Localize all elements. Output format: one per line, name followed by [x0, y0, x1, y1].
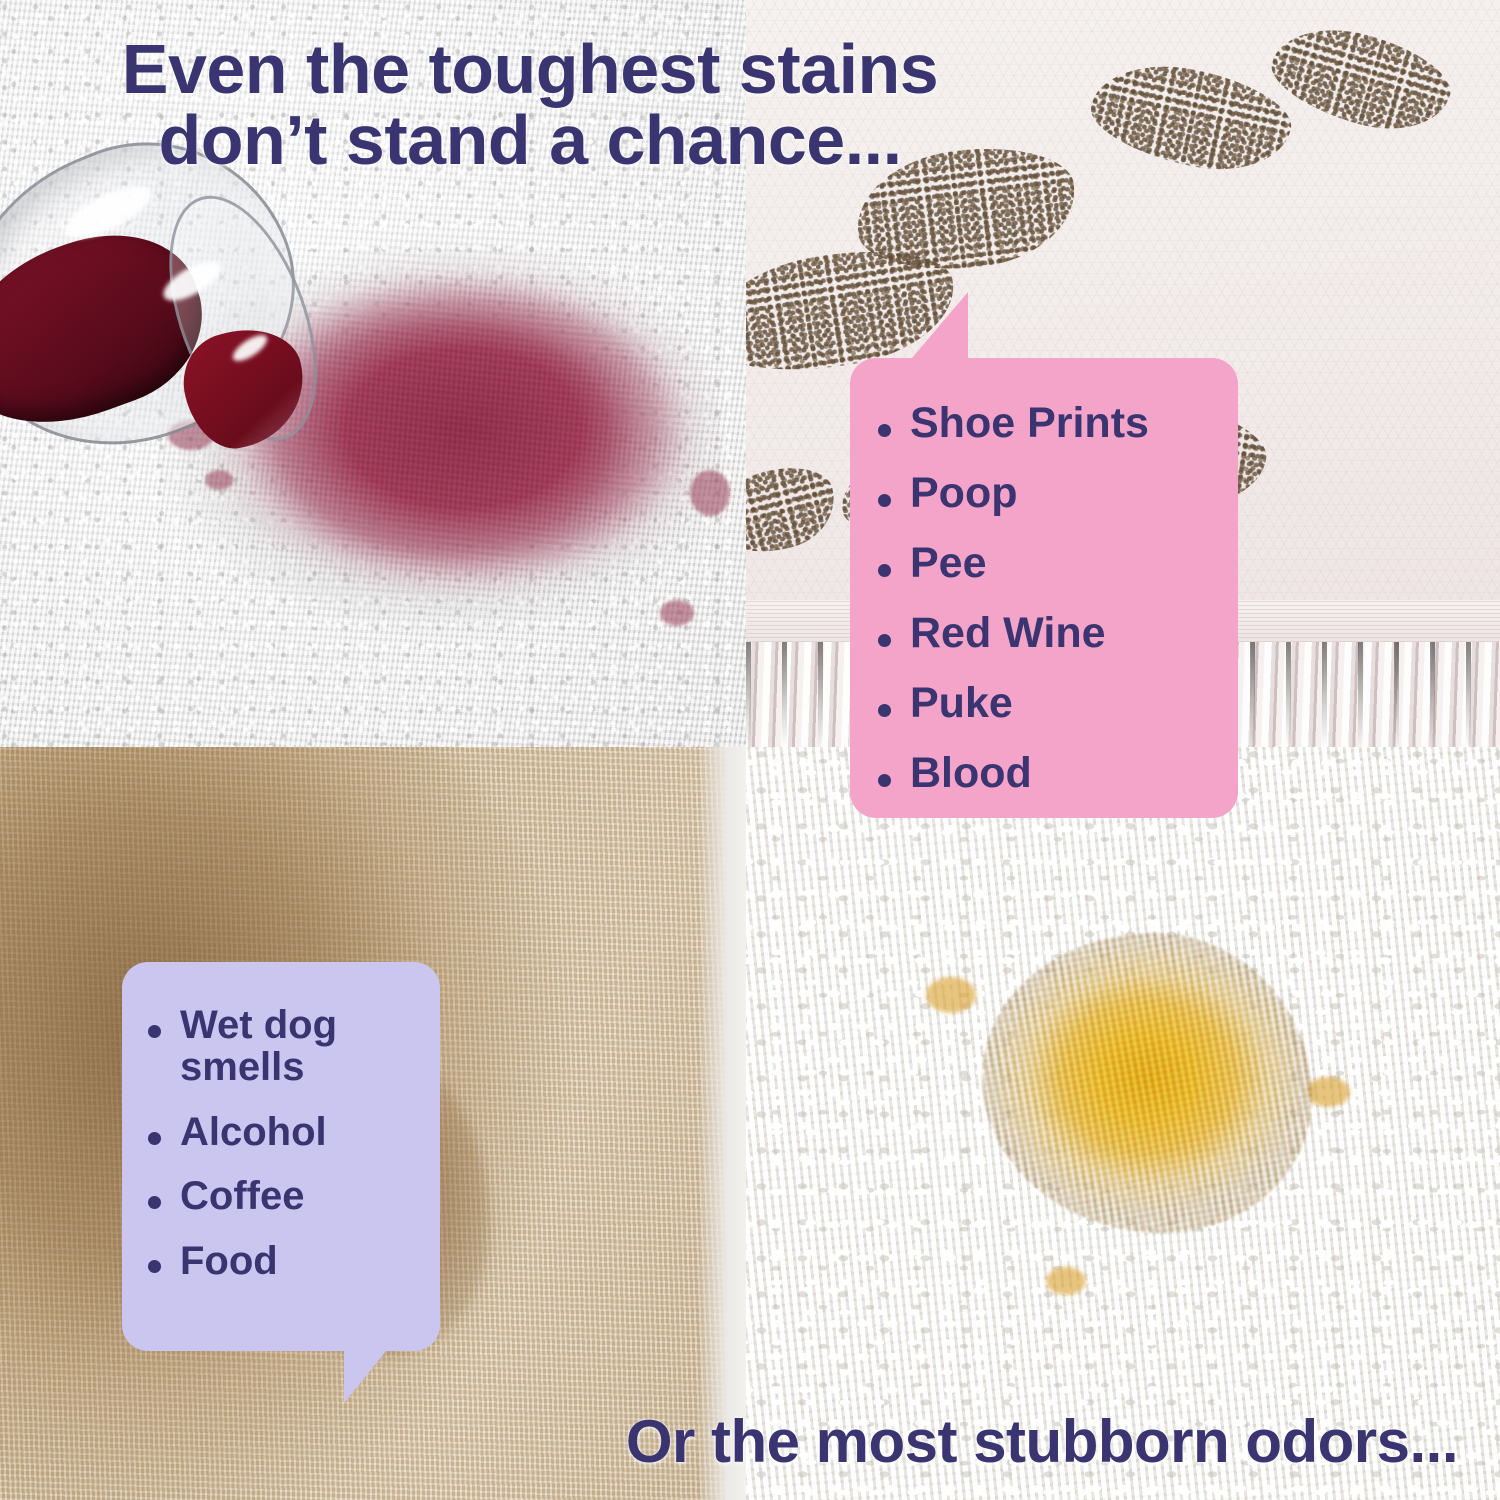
- odor-list: Wet dog smells Alcohol Coffee Food: [122, 962, 440, 1282]
- photo-food-stain: [746, 747, 1500, 1500]
- list-item: Red Wine: [864, 612, 1220, 655]
- list-item: Coffee: [134, 1175, 430, 1217]
- list-item: Puke: [864, 682, 1220, 725]
- list-item: Wet dog smells: [134, 1004, 430, 1089]
- wine-splatter: [660, 600, 694, 626]
- carpet-edge: [700, 747, 746, 1500]
- list-item: Pee: [864, 542, 1220, 585]
- list-item: Poop: [864, 472, 1220, 515]
- stain-list: Shoe Prints Poop Pee Red Wine Puke Blood: [850, 358, 1238, 795]
- list-item: Alcohol: [134, 1111, 430, 1153]
- list-item: Food: [134, 1240, 430, 1282]
- list-item: Shoe Prints: [864, 402, 1220, 445]
- wine-splatter: [690, 470, 730, 516]
- bubble-tail: [344, 1351, 400, 1403]
- food-fleck: [1046, 1267, 1086, 1295]
- odor-list-bubble: Wet dog smells Alcohol Coffee Food: [122, 962, 440, 1351]
- food-fleck: [926, 977, 976, 1013]
- list-item: Blood: [864, 752, 1220, 795]
- wine-splatter: [205, 470, 233, 490]
- promo-collage: Even the toughest stains don’t stand a c…: [0, 0, 1500, 1500]
- bubble-tail: [894, 292, 968, 358]
- stain-list-bubble: Shoe Prints Poop Pee Red Wine Puke Blood: [850, 358, 1238, 818]
- page-title-top: Even the toughest stains don’t stand a c…: [0, 34, 1500, 177]
- page-title-bottom: Or the most stubborn odors...: [0, 1411, 1458, 1472]
- food-fleck: [1306, 1077, 1350, 1107]
